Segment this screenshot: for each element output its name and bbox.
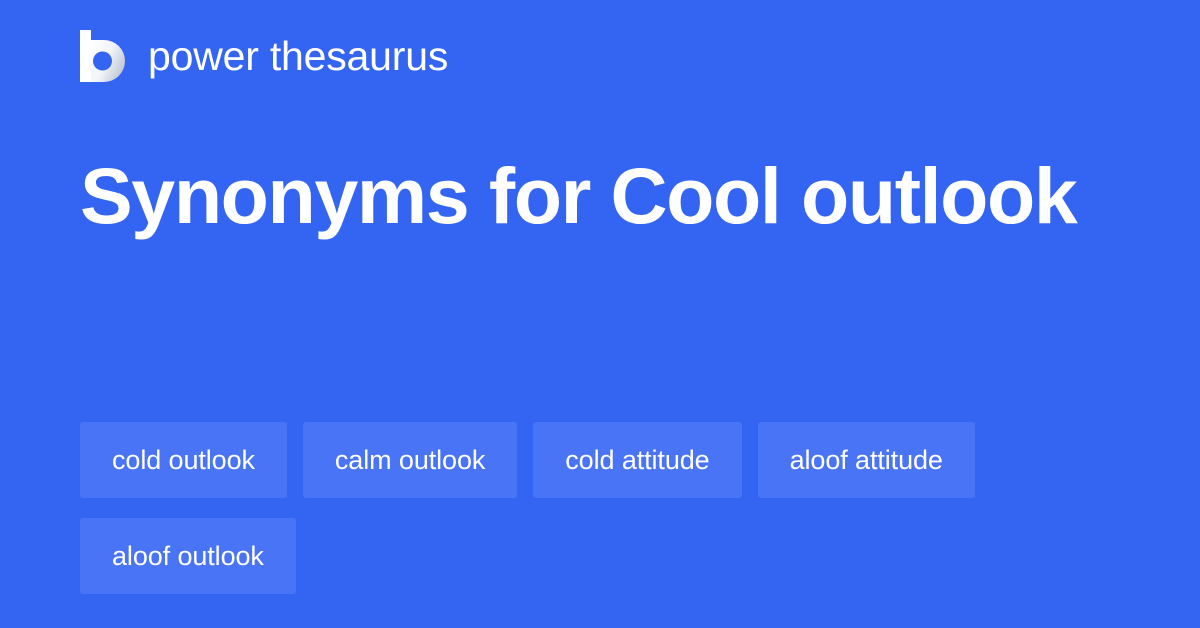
power-thesaurus-b-logo-icon [80, 30, 126, 82]
synonym-chip[interactable]: calm outlook [303, 422, 517, 498]
synonyms-share-card: power thesaurus Synonyms for Cool outloo… [0, 0, 1200, 628]
brand-header[interactable]: power thesaurus [80, 28, 448, 84]
synonym-chip[interactable]: cold outlook [80, 422, 287, 498]
synonym-chip[interactable]: cold attitude [533, 422, 741, 498]
synonym-chip[interactable]: aloof outlook [80, 518, 296, 594]
synonym-chip[interactable]: aloof attitude [758, 422, 975, 498]
page-title: Synonyms for Cool outlook [80, 140, 1080, 252]
synonym-chip-list: cold outlook calm outlook cold attitude … [80, 422, 1120, 594]
brand-name: power thesaurus [148, 30, 448, 82]
